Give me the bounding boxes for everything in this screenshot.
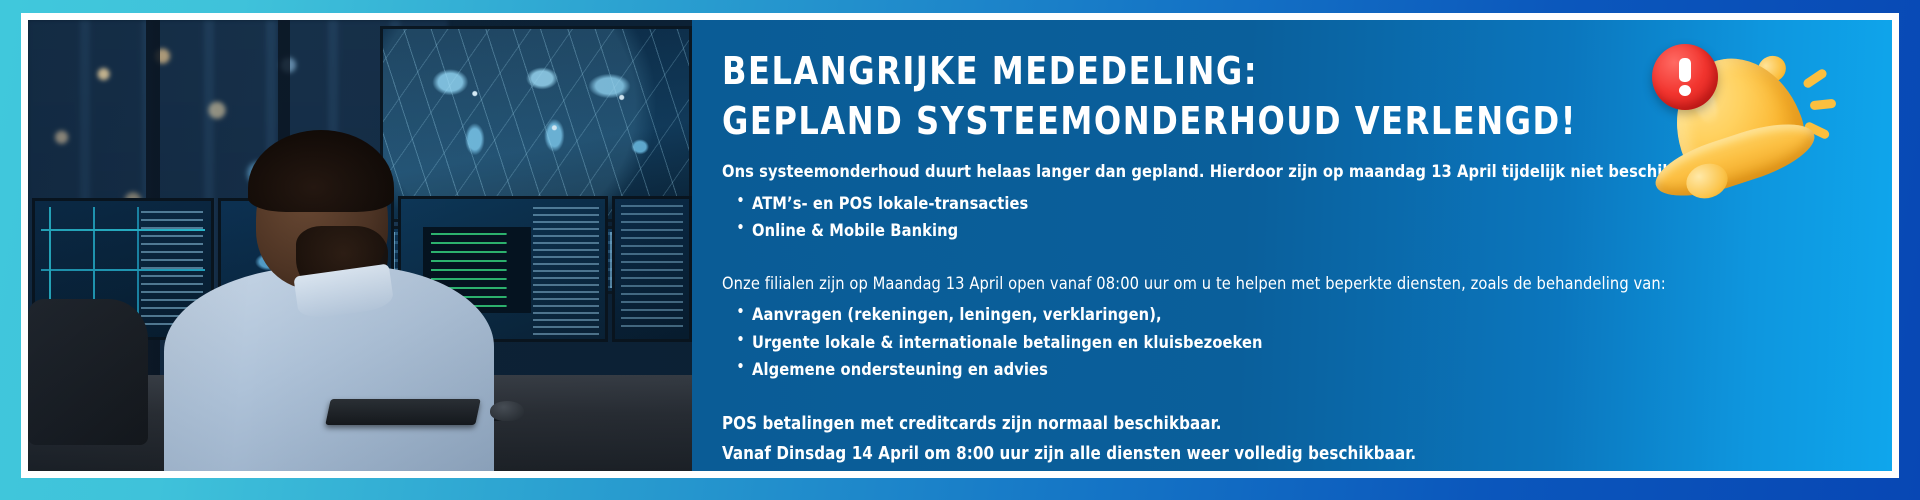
closing-line-3: Excuses voor het ongemak en dank voor ge… [722, 469, 1596, 478]
closing-line-1: POS betalingen met creditcards zijn norm… [722, 409, 1596, 439]
exclamation-mark [1679, 58, 1691, 96]
bell-ray-icon [1810, 99, 1837, 111]
unavailable-services-list: ATM’s- en POS lokale-transacties Online … [722, 191, 1632, 246]
headline-block: BELANGRIJKE MEDEDELING: GEPLAND SYSTEEMO… [722, 46, 1632, 146]
closing-block: POS betalingen met creditcards zijn norm… [722, 409, 1632, 478]
list-item: Urgente lokale & internationale betaling… [752, 330, 1597, 358]
workstation-photo [28, 20, 692, 471]
list-item: Algemene ondersteuning en advies [752, 357, 1597, 385]
photo-color-grade [28, 20, 692, 471]
exclamation-badge-icon [1652, 44, 1718, 110]
available-services-list: Aanvragen (rekeningen, leningen, verklar… [722, 302, 1632, 385]
intro-paragraph: Ons systeemonderhoud duurt helaas langer… [722, 160, 1596, 186]
branches-paragraph: Onze filialen zijn op Maandag 13 April o… [722, 272, 1596, 298]
announcement-panel: BELANGRIJKE MEDEDELING: GEPLAND SYSTEEMO… [692, 20, 1892, 471]
list-item: Aanvragen (rekeningen, leningen, verklar… [752, 302, 1597, 330]
headline-line-1: BELANGRIJKE MEDEDELING: [722, 46, 1577, 96]
banner-root: BELANGRIJKE MEDEDELING: GEPLAND SYSTEEMO… [0, 0, 1920, 500]
headline-line-2: GEPLAND SYSTEEMONDERHOUD VERLENGD! [722, 96, 1577, 146]
alert-bell-icon [1650, 42, 1856, 192]
closing-line-2: Vanaf Dinsdag 14 April om 8:00 uur zijn … [722, 439, 1596, 469]
banner-frame: BELANGRIJKE MEDEDELING: GEPLAND SYSTEEMO… [21, 13, 1899, 478]
list-item: Online & Mobile Banking [752, 218, 1597, 246]
list-item: ATM’s- en POS lokale-transacties [752, 191, 1597, 219]
bell-ray-icon [1802, 67, 1829, 89]
